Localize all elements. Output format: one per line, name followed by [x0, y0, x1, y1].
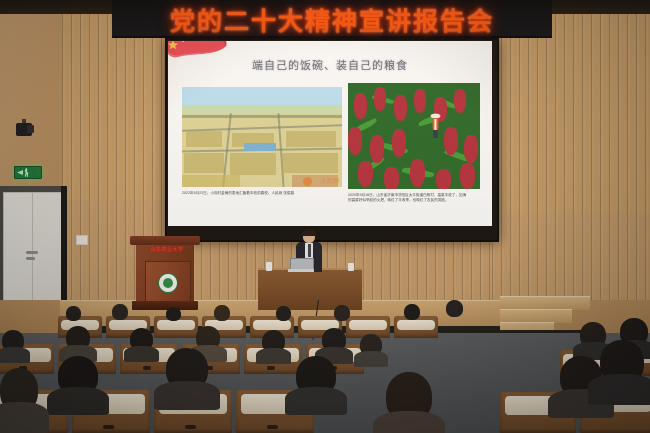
watermark-dot — [303, 177, 312, 186]
wall-panel-left — [0, 0, 68, 190]
presenter-tie — [308, 244, 311, 257]
hall-shell: 党的二十大精神宣讲报告会 端自己的饭碗、装自己的粮食 — [0, 0, 650, 433]
photo-caption-right: 2020年9月16日，山东省济南市济阳区太平街道白杨村，高粱丰收了，如海的高粱好… — [348, 193, 468, 204]
sorghum-field-photo — [348, 83, 480, 189]
slide-title: 端自己的饭碗、装自己的粮食 — [168, 57, 492, 73]
side-exit-door[interactable] — [3, 192, 63, 316]
emergency-exit-sign — [14, 166, 42, 179]
speaker-table — [258, 268, 362, 310]
slat-wall-left — [62, 12, 170, 207]
university-emblem-icon — [158, 273, 178, 293]
exit-arrow-icon — [17, 170, 23, 175]
podium-body: 山东农业大学 — [136, 245, 194, 301]
auditorium-photo: 党的二十大精神宣讲报告会 端自己的饭碗、装自己的粮食 — [0, 0, 650, 433]
podium-institution-text: 山东农业大学 — [136, 246, 198, 253]
open-laptop[interactable] — [288, 258, 314, 272]
door-handle[interactable] — [26, 251, 38, 254]
lectern-podium: 山东农业大学 — [134, 236, 196, 310]
presentation-slide: 端自己的饭碗、装自己的粮食 — [168, 41, 492, 226]
wall-switch-plate[interactable] — [76, 235, 88, 245]
podium-base — [132, 301, 198, 310]
slat-wall-right — [492, 14, 650, 214]
led-banner-panel: 党的二十大精神宣讲报告会 — [112, 0, 552, 38]
led-banner-text: 党的二十大精神宣讲报告会 — [112, 2, 552, 38]
water-cup — [266, 262, 272, 271]
sorghum-image — [348, 83, 480, 189]
podium-top — [130, 236, 200, 245]
farmer-figure — [430, 113, 441, 139]
door-split — [32, 193, 33, 315]
photo-watermark: 人民网 — [321, 176, 339, 185]
aerial-farmland-photo: 人民网 — [182, 87, 342, 187]
running-man-icon — [24, 168, 29, 177]
security-camera-icon — [16, 123, 32, 136]
photo-caption-left: 2022年5月22日，小岗村金黄的麦地汇聚着丰收的喜悦。人民网 张俊摄 — [182, 191, 332, 196]
laptop-keyboard — [288, 269, 314, 272]
water-cup-right — [348, 263, 354, 271]
door-handle-lower[interactable] — [26, 257, 35, 260]
farmland-image: 人民网 — [182, 87, 342, 187]
wall-lower-right — [492, 214, 650, 304]
presenter-hair — [302, 229, 316, 236]
